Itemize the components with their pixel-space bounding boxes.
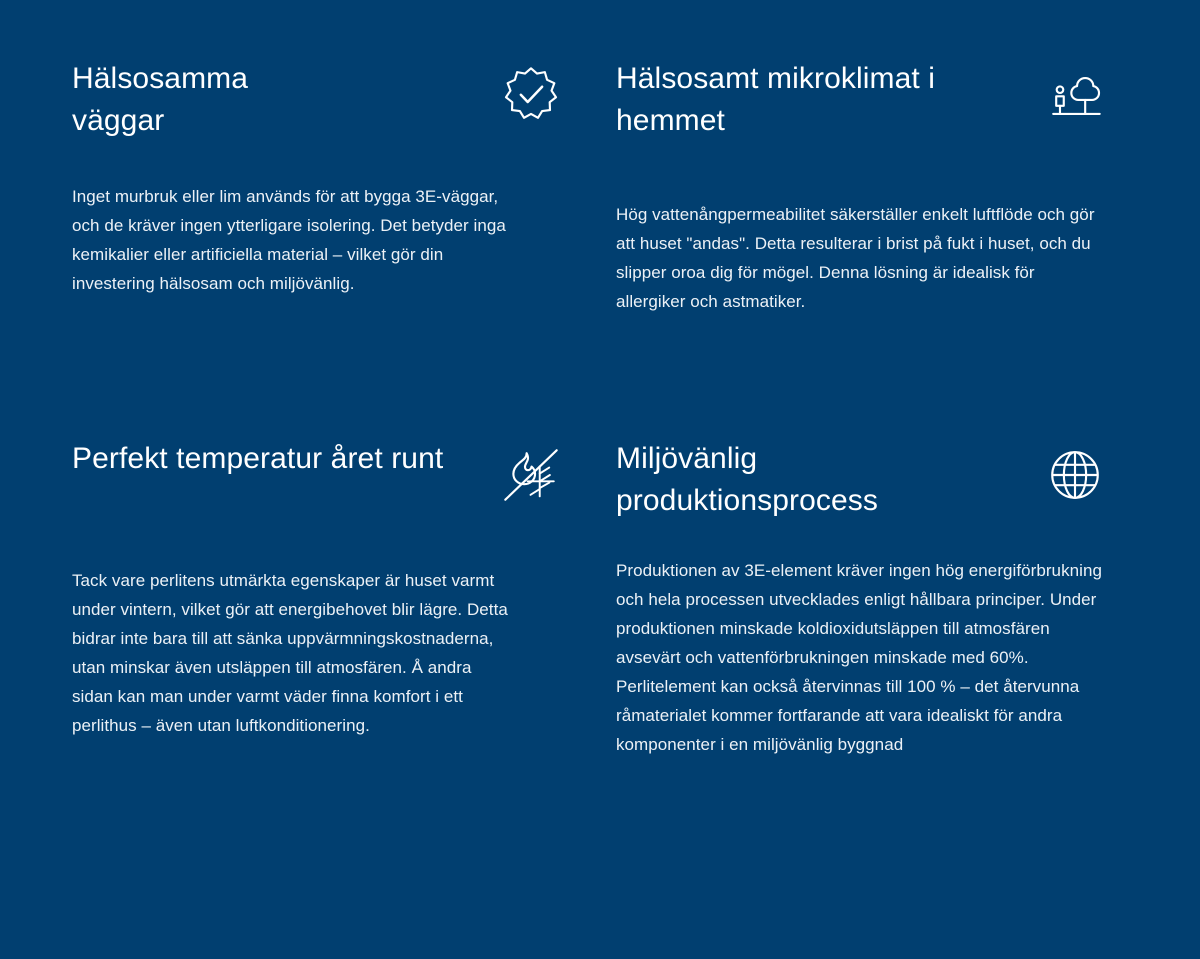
card-body-text: Inget murbruk eller lim används för att … — [72, 182, 517, 298]
feature-card-healthy-walls: Hälsosamma väggar Inget murbruk eller li… — [72, 58, 592, 316]
card-title: Hälsosamt mikroklimat i hemmet — [616, 58, 935, 142]
card-body-text: Hög vattenångpermeabilitet säkerställer … — [616, 200, 1106, 316]
person-tree-icon — [1044, 64, 1106, 126]
globe-icon — [1044, 444, 1106, 506]
card-header: Hälsosamma väggar — [72, 58, 562, 146]
feature-card-perfect-temperature: Perfekt temperatur året runt Tack vare p… — [72, 316, 592, 759]
card-header: Miljövänlig produktionsprocess — [616, 438, 1106, 530]
verified-badge-icon — [500, 64, 562, 126]
feature-grid-page: Hälsosamma väggar Inget murbruk eller li… — [0, 0, 1200, 959]
card-title: Hälsosamma väggar — [72, 58, 248, 142]
card-title: Perfekt temperatur året runt — [72, 438, 443, 480]
feature-card-eco-production: Miljövänlig produktionsprocess Produktio… — [592, 316, 1120, 759]
flame-snowflake-icon — [500, 444, 562, 506]
card-title: Miljövänlig produktionsprocess — [616, 438, 878, 522]
card-body-text: Tack vare perlitens utmärkta egenskaper … — [72, 566, 517, 740]
feature-card-healthy-microclimate: Hälsosamt mikroklimat i hemmet Hög vatte… — [592, 58, 1120, 316]
card-header: Perfekt temperatur året runt — [72, 438, 562, 530]
card-body-text: Produktionen av 3E-element kräver ingen … — [616, 556, 1106, 759]
card-header: Hälsosamt mikroklimat i hemmet — [616, 58, 1106, 146]
feature-cards-grid: Hälsosamma väggar Inget murbruk eller li… — [72, 58, 1120, 759]
